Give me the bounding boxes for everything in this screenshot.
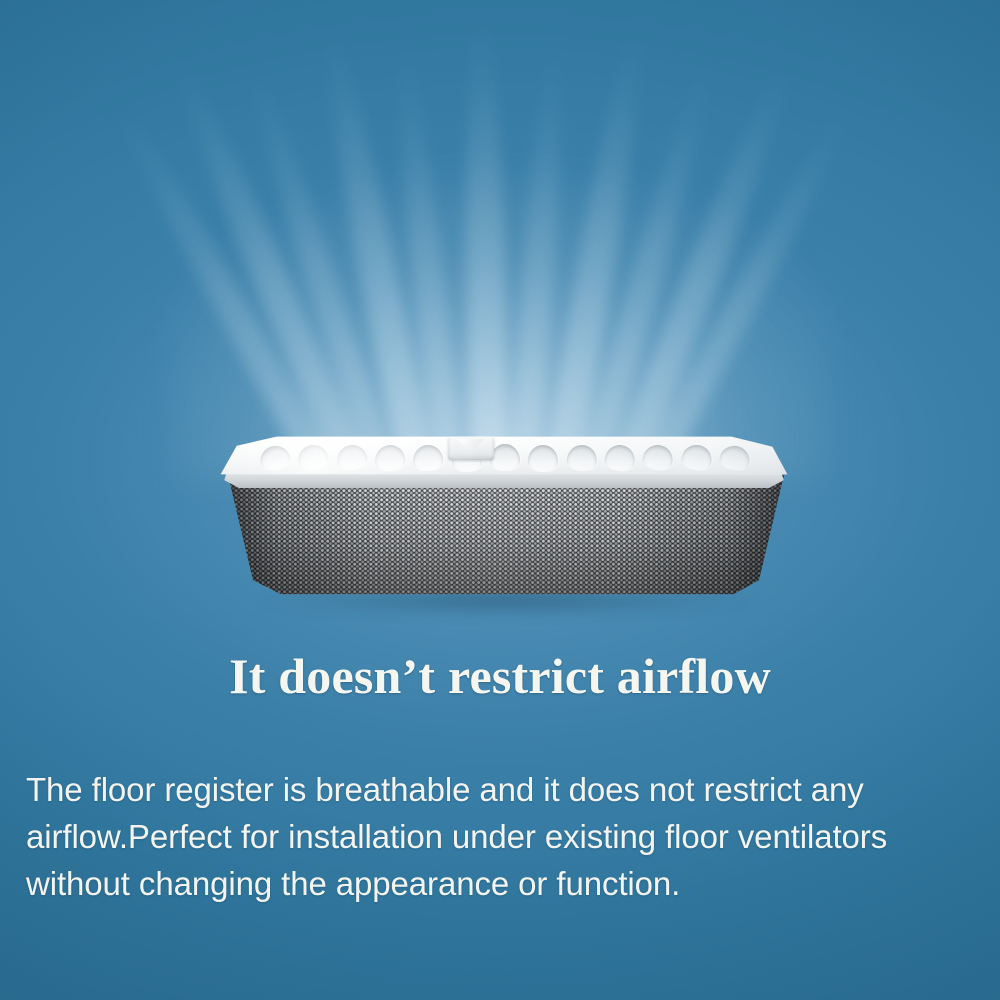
body-line-3: without changing the appearance or funct… [26, 860, 984, 907]
body-copy: The floor register is breathable and it … [26, 766, 984, 907]
headline: It doesn’t restrict airflow [0, 648, 1000, 704]
product-feature-image: It doesn’t restrict airflow The floor re… [0, 0, 1000, 1000]
body-line-1: The floor register is breathable and it … [26, 766, 984, 813]
body-line-2: airflow.Perfect for installation under e… [26, 813, 984, 860]
